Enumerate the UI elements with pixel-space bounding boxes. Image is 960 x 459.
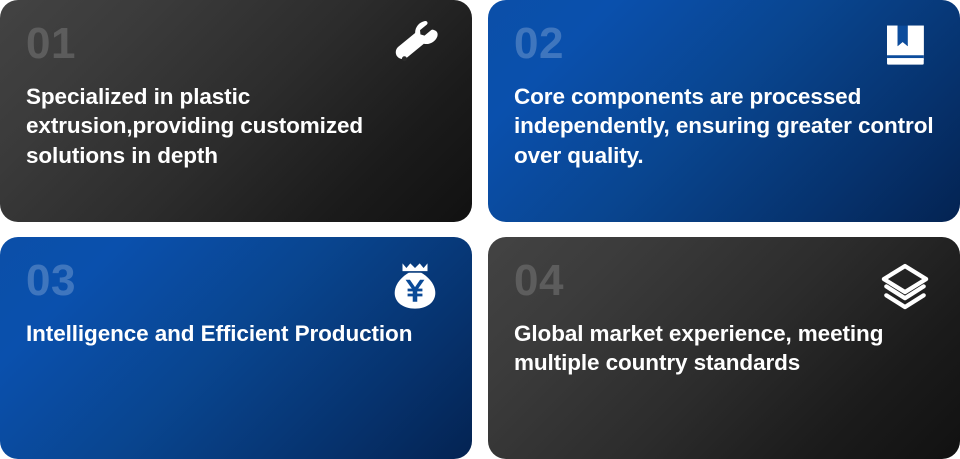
feature-card-02[interactable]: 02 Core components are processed indepen… bbox=[488, 0, 960, 222]
card-text: Specialized in plastic extrusion,providi… bbox=[26, 82, 446, 170]
layers-stack-icon bbox=[876, 259, 934, 317]
feature-card-04[interactable]: 04 Global market experience, meeting mul… bbox=[488, 237, 960, 459]
money-bag-yen-icon bbox=[386, 257, 444, 315]
book-bookmark-icon bbox=[876, 20, 934, 78]
card-text: Core components are processed independen… bbox=[514, 82, 934, 170]
card-number: 02 bbox=[514, 22, 934, 66]
card-text: Global market experience, meeting multip… bbox=[514, 319, 934, 378]
card-number: 04 bbox=[514, 259, 934, 303]
card-text: Intelligence and Efficient Production bbox=[26, 319, 446, 348]
card-number: 01 bbox=[26, 22, 446, 66]
feature-card-grid: 01 Specialized in plastic extrusion,prov… bbox=[0, 0, 960, 459]
card-number: 03 bbox=[26, 259, 446, 303]
wrench-icon bbox=[388, 18, 446, 76]
feature-card-03[interactable]: 03 Intelligence and Efficient Production bbox=[0, 237, 472, 459]
feature-card-01[interactable]: 01 Specialized in plastic extrusion,prov… bbox=[0, 0, 472, 222]
